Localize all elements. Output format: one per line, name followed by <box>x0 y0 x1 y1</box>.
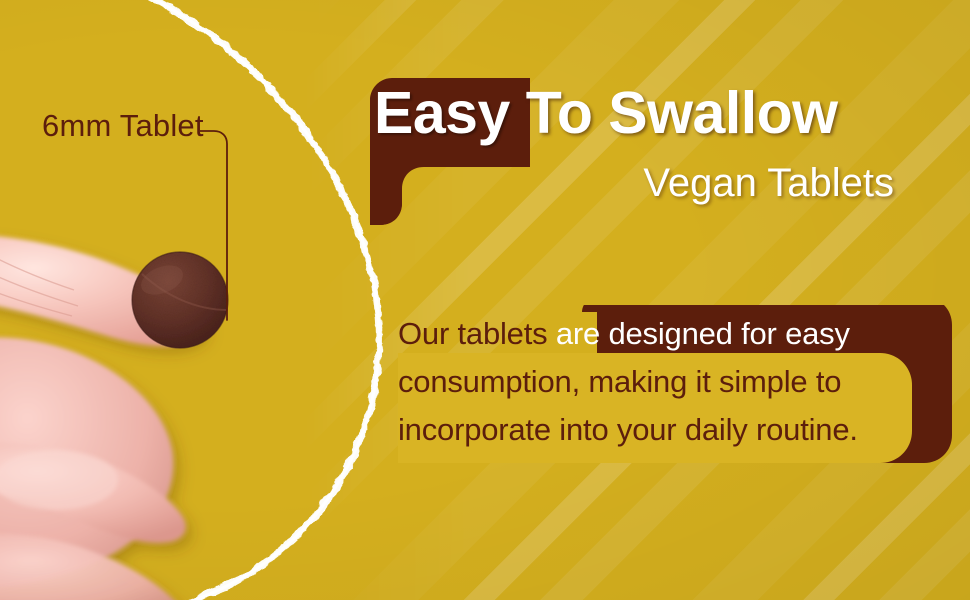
headline: Easy To Swallow <box>374 84 838 143</box>
body-line-3: incorporate into your daily routine. <box>398 412 858 447</box>
body-text: Our tablets are designed for easy consum… <box>398 310 918 454</box>
subheadline: Vegan Tablets <box>374 163 894 203</box>
callout-label: 6mm Tablet <box>42 110 204 141</box>
body-line-2: consumption, making it simple to <box>398 364 841 399</box>
body-copy-block: Our tablets are designed for easy consum… <box>398 305 958 470</box>
product-feature-banner: 6mm Tablet Easy To Swallow Vegan Tablets… <box>0 0 970 600</box>
body-lead: Our tablets <box>398 316 556 351</box>
headline-highlight-word: Easy <box>374 80 510 146</box>
headline-rest: To Swallow <box>510 80 838 146</box>
body-highlight-text: are designed for easy <box>556 316 850 351</box>
